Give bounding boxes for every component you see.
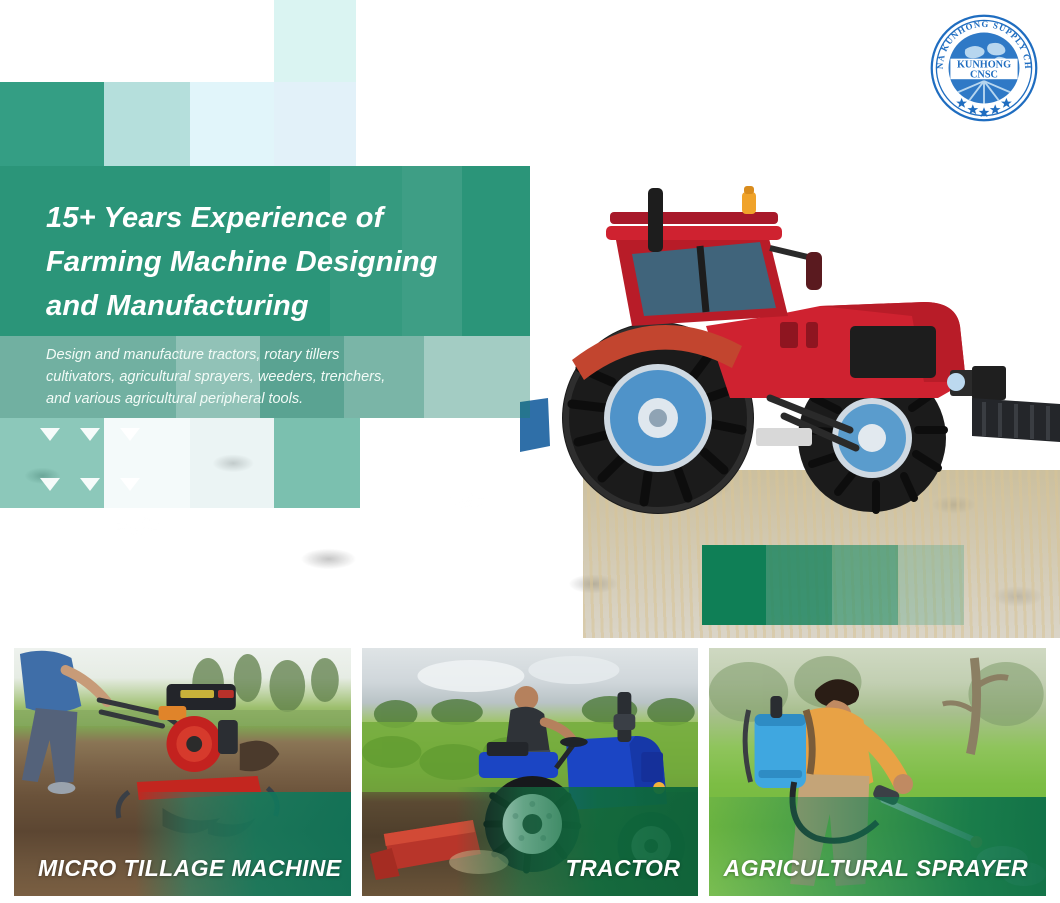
chevron-down-icon [80,428,100,441]
card-label-tractor: TRACTOR [566,855,681,882]
hero-section: 15+ Years Experience of Farming Machine … [0,0,1060,638]
fade-block [832,545,898,625]
fade-block [702,545,766,625]
subtitle-line-2: cultivators, agricultural sprayers, weed… [46,369,385,385]
mosaic-tile [274,82,356,166]
card-label-agricultural-sprayer: AGRICULTURAL SPRAYER [724,855,1028,882]
chevron-down-icon [80,478,100,491]
card-label-micro-tillage: MICRO TILLAGE MACHINE [38,855,342,882]
chevron-down-icon [40,478,60,491]
red-tractor-illustration [520,130,1060,530]
fading-green-blocks [702,545,964,625]
mosaic-tile [104,82,190,166]
mosaic-tile [190,82,274,166]
page-title: 15+ Years Experience of Farming Machine … [46,196,546,328]
mosaic-tile [0,82,104,166]
block-tile [190,418,274,508]
chevron-down-icon [40,428,60,441]
product-card-agricultural-sprayer[interactable]: AGRICULTURAL SPRAYER [709,648,1046,896]
chevron-down-icon [120,478,140,491]
page-subtitle: Design and manufacture tractors, rotary … [46,344,516,410]
company-logo: KUNHONG CNSC CHINA KUNHONG SUPPLY CHAIN [928,12,1040,124]
fade-block [766,545,832,625]
product-card-row: MICRO TILLAGE MACHINE [0,648,1060,903]
subtitle-line-1: Design and manufacture tractors, rotary … [46,347,339,363]
mosaic-tile [356,0,382,58]
headline-line-3: and Manufacturing [46,290,309,322]
chevron-grid [40,428,150,500]
product-card-micro-tillage[interactable]: MICRO TILLAGE MACHINE [14,648,351,896]
block-tile [274,418,360,508]
headline-line-1: 15+ Years Experience of [46,202,384,234]
sky-mosaic-decoration [0,0,560,170]
subtitle-line-3: and various agricultural peripheral tool… [46,391,303,407]
chevron-down-icon [120,428,140,441]
headline-line-2: Farming Machine Designing [46,246,438,278]
product-card-tractor[interactable]: TRACTOR [362,648,699,896]
mosaic-tile [274,0,356,82]
logo-inner-line-2: CNSC [970,69,998,80]
fade-block [898,545,964,625]
promo-banner: 15+ Years Experience of Farming Machine … [0,0,1060,903]
mosaic-tile [0,0,118,82]
